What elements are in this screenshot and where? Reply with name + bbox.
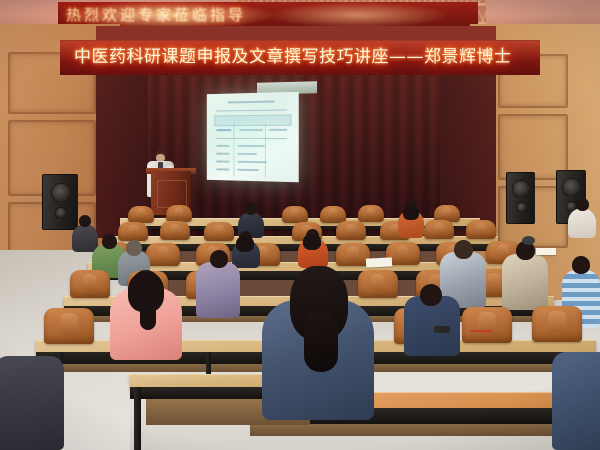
speaker-right-a (506, 172, 535, 224)
speaker-left (42, 174, 78, 230)
main-led-banner: 中医药科研课题申报及文章撰写技巧讲座——郑景辉博士 (60, 40, 540, 75)
phone (434, 326, 450, 333)
podium-front-panel (157, 180, 187, 208)
projection-screen (207, 92, 299, 183)
paper-sheet-right (536, 248, 556, 255)
led-sheen (60, 41, 540, 75)
upper-led-banner: 热烈欢迎专家莅临指导 (58, 2, 478, 28)
pen (470, 330, 492, 332)
led-overexposure (58, 2, 478, 28)
paper-stack (366, 257, 392, 267)
lecture-hall-photo: 热烈欢迎专家莅临指导 中医药科研课题申报及文章撰写技巧讲座——郑景辉博士 (0, 0, 600, 450)
